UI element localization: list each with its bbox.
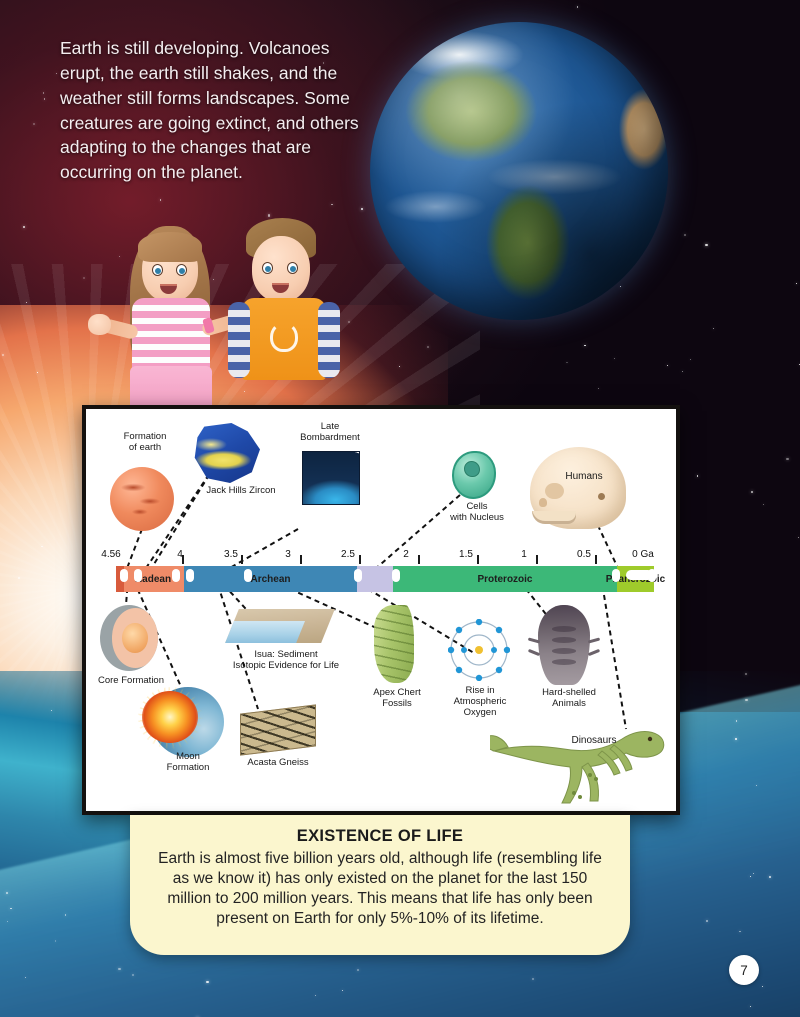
- star-dot: [697, 475, 698, 476]
- event-marker-zircon[interactable]: [172, 569, 180, 582]
- tick-label-3: 3: [278, 549, 298, 560]
- star-dot: [7, 921, 8, 922]
- event-marker-hardshell[interactable]: [612, 569, 620, 582]
- star-dot: [268, 214, 270, 216]
- star-dot: [763, 504, 764, 505]
- star-dot: [796, 283, 797, 284]
- page-root: Earth is still developing. Volcanoes eru…: [0, 0, 800, 1017]
- star-dot: [160, 199, 161, 200]
- star-dot: [745, 699, 747, 701]
- tick-label-2-5: 2.5: [336, 549, 360, 560]
- star-dot: [705, 244, 707, 246]
- star-dot: [118, 968, 120, 970]
- cartoon-girl: [118, 222, 238, 407]
- callout-title: EXISTENCE OF LIFE: [152, 827, 608, 846]
- star-dot: [56, 73, 57, 74]
- event-label-humans: Humans: [554, 471, 614, 483]
- star-dot: [751, 491, 753, 493]
- star-dot: [23, 226, 25, 228]
- tick-label-4: 4: [170, 549, 190, 560]
- star-dot: [55, 940, 56, 941]
- star-dot: [357, 969, 359, 971]
- tick-mark-2: [418, 555, 420, 564]
- star-dot: [26, 302, 27, 303]
- star-dot: [786, 458, 788, 460]
- star-dot: [51, 710, 52, 711]
- star-dot: [25, 977, 26, 978]
- boy-arm-left: [228, 302, 250, 378]
- star-dot: [713, 328, 714, 329]
- tick-mark-3-5: [241, 555, 243, 564]
- girl-hand-left: [88, 314, 111, 335]
- event-label-formation-of-earth: Formation of earth: [100, 431, 190, 453]
- star-dot: [331, 204, 333, 206]
- callout-body: Earth is almost five billion years old, …: [152, 849, 608, 930]
- tick-mark-2-5: [359, 555, 361, 564]
- star-dot: [756, 785, 757, 786]
- star-dot: [706, 920, 708, 922]
- event-marker-gneiss[interactable]: [186, 569, 194, 582]
- boy-arm-right: [318, 302, 340, 378]
- earth-globe-image: [370, 22, 668, 320]
- eon-label-proterozoic: Proterozoic: [393, 574, 617, 585]
- star-dot: [206, 981, 208, 983]
- boy-eye-right: [287, 262, 298, 274]
- trilobite-icon: [538, 605, 590, 685]
- eon-segment-proterozoic[interactable]: Proterozoic: [393, 566, 617, 592]
- star-dot: [682, 371, 684, 373]
- girl-eye-left: [152, 264, 163, 276]
- human-skull-icon: [530, 447, 626, 529]
- dinosaur-icon: [490, 705, 670, 809]
- eon-segment-archean[interactable]: Archean: [184, 566, 357, 592]
- existence-of-life-callout: EXISTENCE OF LIFE Earth is almost five b…: [130, 815, 630, 955]
- event-marker-formation[interactable]: [120, 569, 128, 582]
- eon-label-archean: Archean: [184, 574, 357, 585]
- tick-label-4-56: 4.56: [94, 549, 128, 560]
- event-label-moon-formation: Moon Formation: [148, 751, 228, 773]
- star-dot: [769, 876, 770, 877]
- early-earth-icon: [110, 467, 174, 531]
- star-dot: [745, 673, 746, 674]
- tick-mark-1: [536, 555, 538, 564]
- event-marker-humans[interactable]: [648, 569, 656, 582]
- star-dot: [584, 345, 586, 347]
- star-dot: [361, 208, 363, 210]
- girl-hair-front: [138, 232, 202, 262]
- star-dot: [750, 876, 751, 877]
- star-dot: [532, 978, 534, 980]
- event-label-cells-with-nucleus: Cells with Nucleus: [434, 501, 520, 523]
- event-label-core-formation: Core Formation: [88, 675, 174, 686]
- event-label-late-bombardment: Late Bombardment: [282, 421, 378, 443]
- tick-label-1-5: 1.5: [454, 549, 478, 560]
- geologic-timeline-panel: Formation of earth Jack Hills Zircon Lat…: [82, 405, 680, 815]
- event-label-apex-chert: Apex Chert Fossils: [358, 687, 436, 709]
- star-dot: [762, 986, 763, 987]
- star-dot: [44, 98, 46, 100]
- star-dot: [33, 123, 35, 125]
- tick-label-2: 2: [396, 549, 416, 560]
- tick-label-0-5: 0.5: [572, 549, 596, 560]
- page-number-badge: 7: [729, 955, 759, 985]
- tick-mark-1-5: [477, 555, 479, 564]
- event-label-dinosaurs: Dinosaurs: [556, 735, 632, 747]
- star-dot: [750, 1006, 751, 1007]
- star-dot: [620, 286, 621, 287]
- star-dot: [798, 537, 799, 538]
- event-marker-core[interactable]: [134, 569, 142, 582]
- star-dot: [690, 359, 691, 360]
- star-dot: [577, 6, 579, 8]
- star-dot: [315, 995, 316, 996]
- star-dot: [684, 234, 686, 236]
- star-dot: [6, 892, 8, 894]
- cartoon-boy: [226, 218, 351, 408]
- meteor-bombardment-icon: [302, 451, 360, 505]
- star-dot: [598, 388, 599, 389]
- oxygen-atom-icon: [448, 619, 510, 681]
- tick-mark-3: [300, 555, 302, 564]
- star-dot: [18, 577, 20, 579]
- tick-label-1: 1: [514, 549, 534, 560]
- girl-eye-right: [176, 264, 187, 276]
- boy-eye-left: [262, 262, 273, 274]
- tick-label-0-ga: 0 Ga: [626, 549, 660, 560]
- star-dot: [41, 546, 42, 547]
- star-dot: [132, 974, 134, 976]
- star-dot: [83, 277, 85, 279]
- girl-shirt: [132, 298, 210, 376]
- star-dot: [65, 914, 66, 915]
- star-dot: [667, 365, 668, 366]
- star-dot: [735, 738, 737, 740]
- star-dot: [342, 990, 343, 991]
- star-dot: [736, 720, 738, 722]
- microfossil-icon: [374, 605, 414, 683]
- event-marker-cells[interactable]: [392, 569, 400, 582]
- tick-mark-0-5: [595, 555, 597, 564]
- star-dot: [37, 372, 38, 373]
- star-dot: [753, 873, 754, 874]
- star-dot: [43, 92, 44, 93]
- moon-impact-icon: [152, 687, 224, 757]
- tick-label-3-5: 3.5: [219, 549, 243, 560]
- star-dot: [2, 354, 4, 356]
- event-marker-oxygen[interactable]: [354, 569, 362, 582]
- event-label-jack-hills-zircon: Jack Hills Zircon: [186, 485, 296, 496]
- star-dot: [399, 366, 400, 367]
- star-dot: [566, 362, 568, 364]
- boy-shirt-logo: [270, 322, 298, 352]
- event-label-acasta-gneiss: Acasta Gneiss: [230, 757, 326, 768]
- event-marker-isua[interactable]: [244, 569, 252, 582]
- star-dot: [10, 908, 11, 909]
- sediment-layer-icon: [225, 609, 335, 643]
- star-dot: [614, 358, 615, 359]
- timeline-bar: Hadean Archean Proterozoic Phanerozoic: [116, 566, 654, 592]
- earth-core-icon: [100, 605, 158, 671]
- star-dot: [427, 346, 429, 348]
- intro-paragraph: Earth is still developing. Volcanoes eru…: [60, 36, 360, 185]
- eon-segment-transition[interactable]: [357, 566, 393, 592]
- event-label-isua-sediment: Isua: Sediment Isotopic Evidence for Lif…: [216, 649, 356, 671]
- star-dot: [739, 931, 741, 933]
- tick-mark-4: [182, 555, 184, 564]
